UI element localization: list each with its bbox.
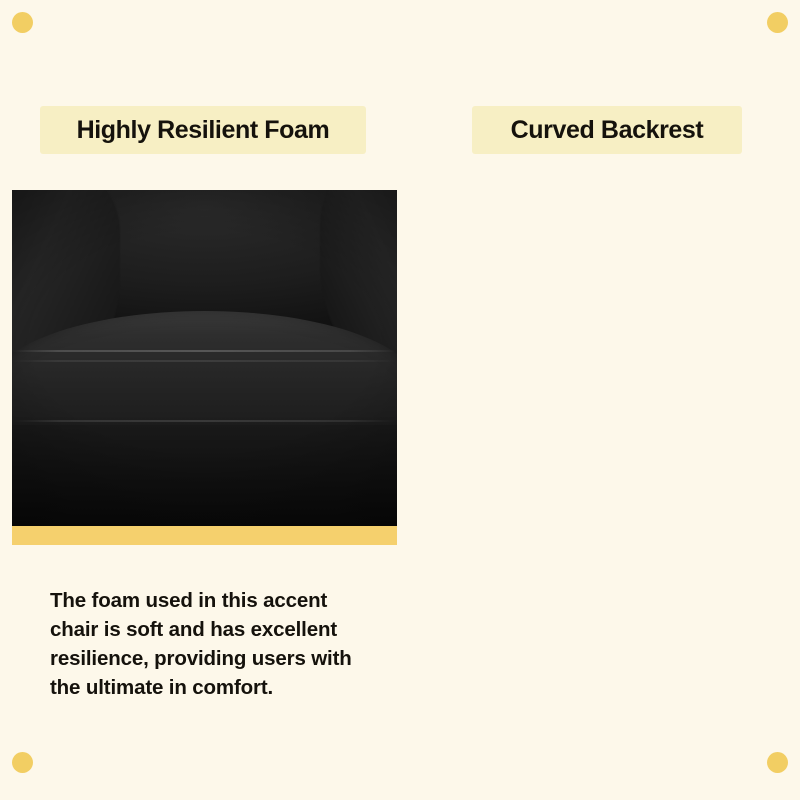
feature-image-underline-foam bbox=[12, 526, 397, 545]
feature-heading-backrest: Curved Backrest bbox=[511, 116, 704, 145]
feature-panel-foam: Highly Resilient Foam The foam used in t… bbox=[0, 0, 400, 800]
feature-panel-backrest: Curved Backrest This accent chair featur… bbox=[400, 0, 800, 800]
feature-image-foam bbox=[12, 190, 397, 526]
feature-heading-foam: Highly Resilient Foam bbox=[77, 116, 330, 145]
feature-description-foam: The foam used in this accent chair is so… bbox=[50, 586, 380, 702]
seat-vignette bbox=[12, 190, 397, 526]
sofa-seat-photo bbox=[12, 190, 397, 526]
product-feature-infographic: Highly Resilient Foam The foam used in t… bbox=[0, 0, 800, 800]
feature-heading-badge-backrest: Curved Backrest bbox=[472, 106, 742, 154]
feature-heading-badge-foam: Highly Resilient Foam bbox=[40, 106, 366, 154]
